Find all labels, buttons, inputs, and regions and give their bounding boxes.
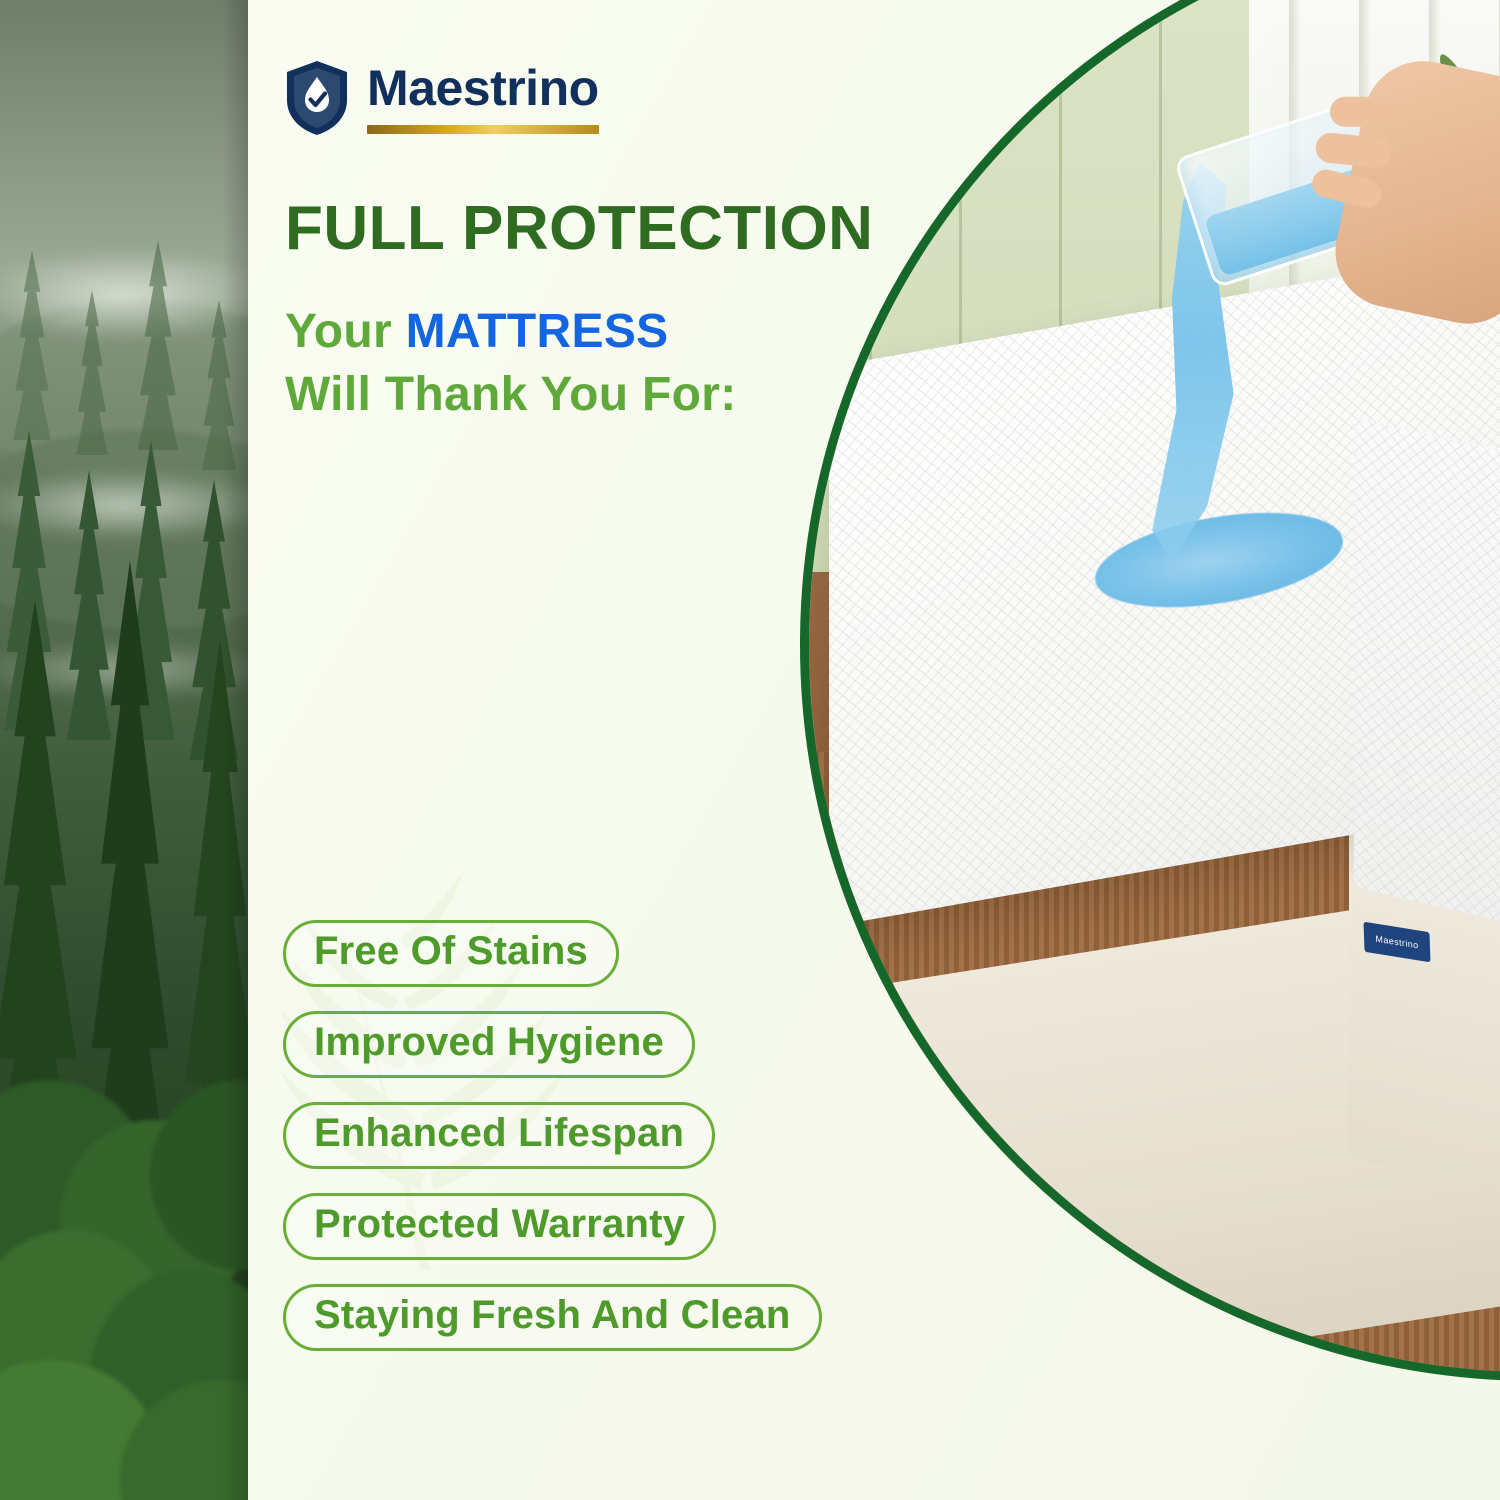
- brand-name: Maestrino: [367, 63, 599, 113]
- product-photo: Maestrino: [809, 0, 1500, 1372]
- page-subtitle: Your MATTRESS Will Thank You For:: [285, 300, 736, 427]
- product-infographic: Maestrino FULL PROTECTION Your MATTRESS …: [0, 0, 1500, 1500]
- subtitle-line-1: Your MATTRESS: [285, 300, 736, 363]
- product-photo-circle: Maestrino: [800, 0, 1500, 1381]
- benefit-pill: Enhanced Lifespan: [283, 1102, 715, 1169]
- subtitle-accent: MATTRESS: [406, 305, 669, 358]
- forest-photo-strip: [0, 0, 248, 1500]
- page-title: FULL PROTECTION: [285, 196, 873, 261]
- benefit-list: Free Of Stains Improved Hygiene Enhanced…: [283, 920, 822, 1351]
- brand-logo: Maestrino: [285, 60, 599, 136]
- strip-edge-shadow: [222, 0, 248, 1500]
- subtitle-line-2: Will Thank You For:: [285, 363, 736, 426]
- logo-underline-bar: [367, 125, 599, 134]
- benefit-pill: Improved Hygiene: [283, 1011, 695, 1078]
- benefit-pill: Protected Warranty: [283, 1193, 716, 1260]
- benefit-pill: Staying Fresh And Clean: [283, 1284, 822, 1351]
- benefit-pill: Free Of Stains: [283, 920, 619, 987]
- subtitle-prefix: Your: [285, 305, 406, 358]
- shield-checkmark-icon: [285, 60, 349, 136]
- finger: [1330, 97, 1400, 127]
